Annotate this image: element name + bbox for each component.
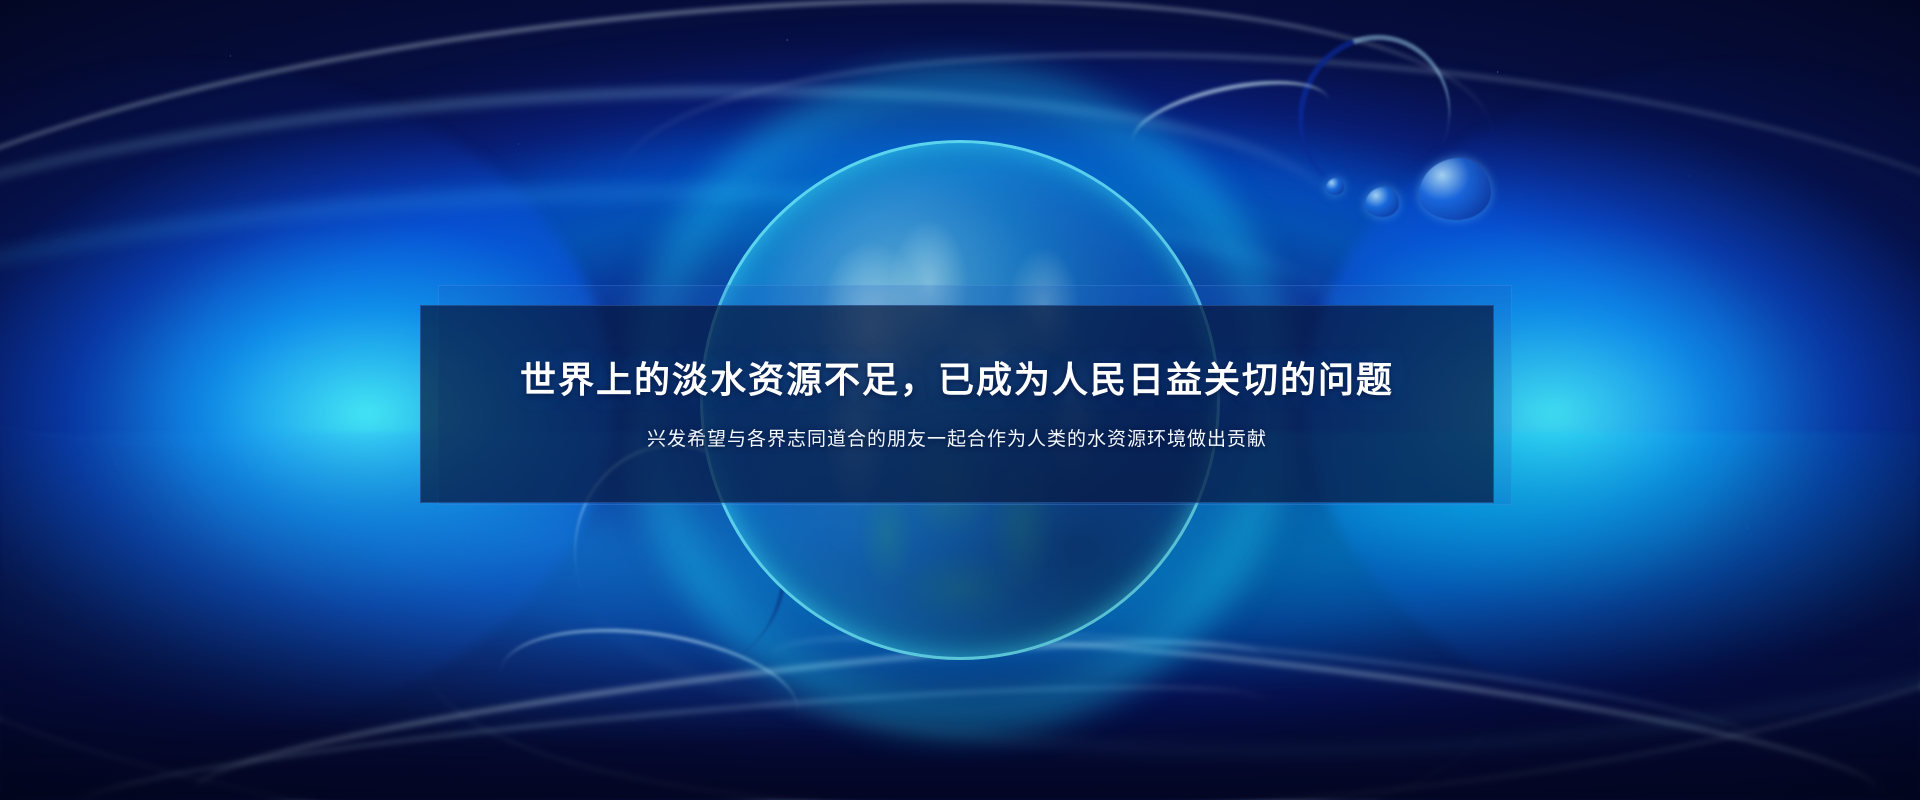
banner-subheadline: 兴发希望与各界志同道合的朋友一起合作为人类的水资源环境做出贡献 bbox=[647, 424, 1267, 451]
hero-banner: 世界上的淡水资源不足，已成为人民日益关切的问题 兴发希望与各界志同道合的朋友一起… bbox=[0, 0, 1920, 800]
text-panel: 世界上的淡水资源不足，已成为人民日益关切的问题 兴发希望与各界志同道合的朋友一起… bbox=[420, 305, 1494, 503]
water-droplet-medium-icon bbox=[1365, 187, 1399, 217]
water-droplet-small-icon bbox=[1326, 178, 1344, 195]
banner-headline: 世界上的淡水资源不足，已成为人民日益关切的问题 bbox=[520, 357, 1394, 402]
water-droplet-large-icon bbox=[1419, 158, 1491, 220]
